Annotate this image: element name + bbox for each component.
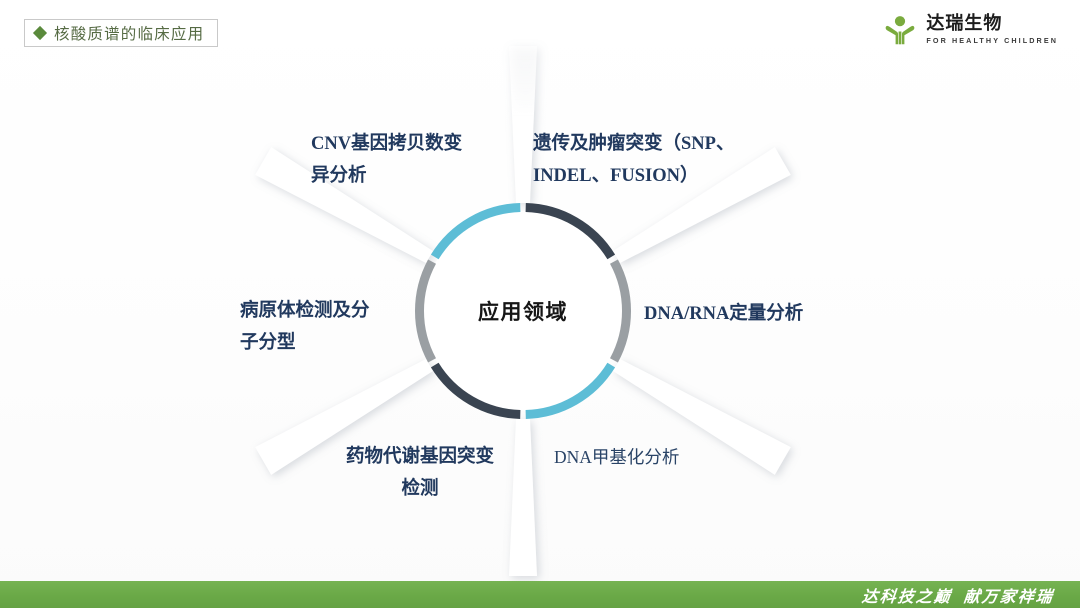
footer-band: 达科技之巅 献万家祥瑞	[0, 581, 1080, 608]
hub-donut-chart: 应用领域	[395, 183, 651, 439]
brand-tagline: FOR HEALTHY CHILDREN	[926, 36, 1058, 45]
spoke-label-drug-metabolism: 药物代谢基因突变 检测	[320, 442, 520, 506]
spoke-label-cnv: CNV基因拷贝数变 异分析	[311, 129, 516, 193]
page-title: 核酸质谱的临床应用	[54, 22, 204, 44]
spoke-label-pathogen: 病原体检测及分 子分型	[240, 296, 415, 360]
spoke-label-methylation: DNA甲基化分析	[554, 442, 774, 472]
spoke-label-quantification: DNA/RNA定量分析	[644, 299, 854, 331]
footer-slogan: 达科技之巅 献万家祥瑞	[861, 583, 1056, 607]
brand-text-group: 达瑞生物 FOR HEALTHY CHILDREN	[926, 15, 1058, 46]
diamond-icon	[33, 26, 47, 40]
donut-center-label: 应用领域	[395, 183, 651, 439]
spoke-label-mutation: 遗传及肿瘤突变（SNP、 INDEL、FUSION）	[533, 129, 803, 193]
slide-canvas: 核酸质谱的临床应用 达瑞生物 FOR HEALTHY CHILDREN 应用领域…	[0, 0, 1080, 608]
brand-logo: 达瑞生物 FOR HEALTHY CHILDREN	[883, 14, 1058, 46]
slide-title-chip: 核酸质谱的临床应用	[24, 19, 218, 47]
brand-name: 达瑞生物	[926, 15, 1002, 34]
child-person-icon	[883, 14, 917, 46]
